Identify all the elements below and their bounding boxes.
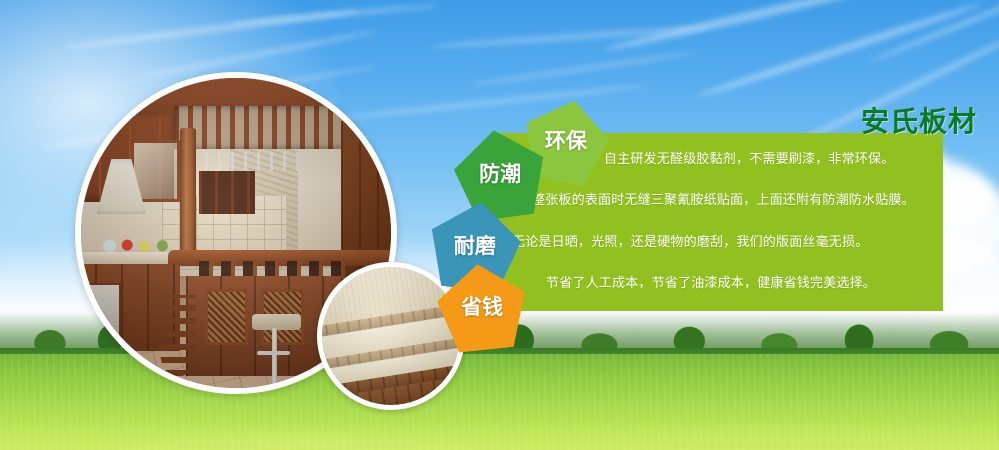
board-vignette <box>322 267 460 405</box>
feature-text-moisture: 整张板的表面时无缝三聚氰胺纸贴面，上面还附有防潮防水贴膜。 <box>496 192 935 210</box>
promo-banner: 自主研发无醛级胶黏剂，不需要刷漆，非常环保。 整张板的表面时无缝三聚氰胺纸贴面，… <box>0 0 999 450</box>
badge-wear-resistant-label: 耐磨 <box>454 236 496 257</box>
badge-money-saving-label: 省钱 <box>461 297 503 318</box>
feature-text-save: 节省了人工成本，节省了油漆成本，健康省钱完美选择。 <box>496 275 935 293</box>
cloud-streak <box>471 50 699 87</box>
badge-moisture-proof-label: 防潮 <box>479 164 521 185</box>
cloud-streak <box>603 0 927 54</box>
brand-logo-text: 安氏板材 <box>861 100 977 140</box>
board-samples-image <box>322 267 460 405</box>
badge-eco-label: 环保 <box>545 131 587 152</box>
feature-text-wear: 无论是日晒，光照，还是硬物的磨刮，我们的版面丝毫无损。 <box>496 234 935 252</box>
